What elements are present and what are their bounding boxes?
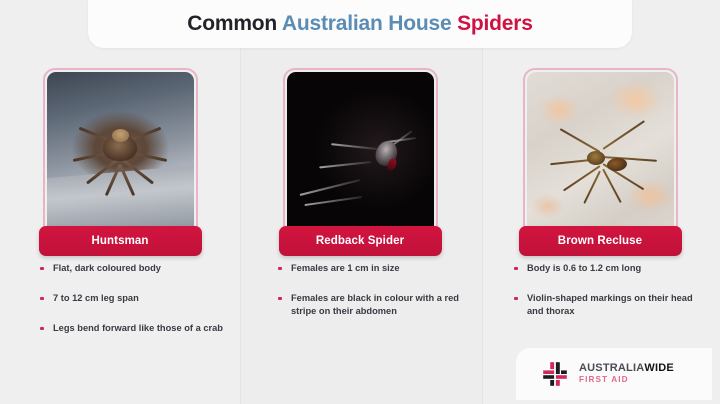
page-title: Common Australian House Spiders (187, 12, 532, 36)
first-aid-cross-icon (542, 361, 568, 387)
spider-card-brown-recluse[interactable]: Brown Recluse (523, 68, 678, 248)
huntsman-cephalothorax (112, 129, 129, 142)
card-column-recluse: Brown Recluse (480, 68, 720, 250)
list-item: Legs bend forward like those of a crab (40, 322, 232, 335)
brown-recluse-spider-photo (527, 72, 674, 244)
list-item: Flat, dark coloured body (40, 262, 232, 275)
spider-cards-row: Huntsman Redback Spider (0, 68, 720, 250)
facts-list-brown-recluse: Body is 0.6 to 1.2 cm long Violin-shaped… (484, 262, 720, 352)
facts-list-huntsman: Flat, dark coloured body 7 to 12 cm leg … (0, 262, 246, 352)
huntsman-spider-photo (47, 72, 194, 244)
brand-logo-text: AUSTRALIAWIDE FIRST AID (579, 363, 674, 384)
spider-label-redback: Redback Spider (279, 226, 442, 256)
spider-facts-row: Flat, dark coloured body 7 to 12 cm leg … (0, 262, 720, 352)
brand-name-line: AUSTRALIAWIDE (579, 363, 674, 375)
spider-label-huntsman: Huntsman (39, 226, 202, 256)
recluse-abdomen (607, 157, 628, 172)
list-item: 7 to 12 cm leg span (40, 292, 232, 305)
header-banner: Common Australian House Spiders (88, 0, 632, 48)
facts-list-redback: Females are 1 cm in size Females are bla… (246, 262, 484, 352)
spider-card-redback[interactable]: Redback Spider (283, 68, 438, 248)
spider-card-huntsman[interactable]: Huntsman (43, 68, 198, 248)
recluse-leg (602, 120, 645, 150)
card-column-redback: Redback Spider (240, 68, 480, 250)
redback-spider-photo (287, 72, 434, 244)
recluse-leg (560, 128, 601, 153)
page-title-part-common: Common (187, 12, 282, 35)
brand-tagline: FIRST AID (579, 376, 674, 385)
redback-leg (331, 143, 377, 150)
page-title-part-australian-house: Australian House (282, 12, 457, 35)
redback-leg (300, 179, 361, 196)
recluse-cephalothorax (587, 151, 605, 165)
brand-name-wide: WIDE (644, 362, 674, 374)
redback-leg (319, 161, 371, 168)
list-item: Females are 1 cm in size (278, 262, 470, 275)
list-item: Body is 0.6 to 1.2 cm long (514, 262, 706, 275)
list-item: Violin-shaped markings on their head and… (514, 292, 706, 318)
list-item: Females are black in colour with a red s… (278, 292, 470, 318)
card-column-huntsman: Huntsman (0, 68, 240, 250)
brand-logo: AUSTRALIAWIDE FIRST AID (516, 348, 712, 400)
redback-leg (305, 196, 363, 206)
brand-name-australia: AUSTRALIA (579, 362, 644, 374)
page-title-part-spiders: Spiders (457, 12, 533, 35)
spider-label-brown-recluse: Brown Recluse (519, 226, 682, 256)
